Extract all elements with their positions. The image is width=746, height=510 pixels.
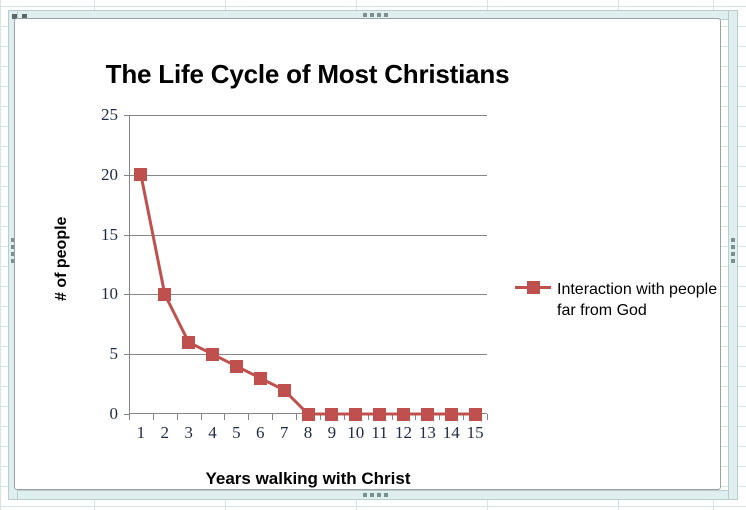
sheet-row-gridline: [0, 6, 746, 7]
plot-area[interactable]: 0510152025 123456789101112131415: [129, 115, 487, 414]
data-point-marker[interactable]: [158, 288, 171, 301]
x-axis-tick-label: 1: [137, 423, 146, 443]
x-axis-title: Years walking with Christ: [129, 469, 487, 489]
chart-legend[interactable]: Interaction with people far from God: [515, 279, 720, 321]
x-axis-tick-label: 8: [304, 423, 313, 443]
x-axis-tick-label: 13: [419, 423, 436, 443]
data-point-marker[interactable]: [302, 408, 315, 421]
chart-object[interactable]: The Life Cycle of Most Christians # of p…: [8, 10, 738, 500]
resize-grip-bottom[interactable]: [363, 493, 388, 497]
data-point-marker[interactable]: [134, 168, 147, 181]
x-axis-tick-label: 6: [256, 423, 265, 443]
resize-grip-top[interactable]: [363, 13, 388, 17]
sheet-column-gridline: [0, 0, 1, 510]
x-axis-tick-label: 14: [443, 423, 460, 443]
x-axis-tick: [487, 414, 488, 420]
data-point-marker[interactable]: [421, 408, 434, 421]
x-axis-tick: [153, 414, 154, 420]
y-axis-tick-label: 10: [101, 284, 118, 304]
data-point-marker[interactable]: [469, 408, 482, 421]
chart-plot-frame[interactable]: The Life Cycle of Most Christians # of p…: [14, 18, 721, 490]
x-axis-tick-label: 12: [395, 423, 412, 443]
data-point-marker[interactable]: [445, 408, 458, 421]
y-axis-title: # of people: [53, 217, 71, 301]
data-point-marker[interactable]: [373, 408, 386, 421]
series-line: [129, 115, 487, 414]
data-point-marker[interactable]: [254, 372, 267, 385]
y-axis-tick-label: 5: [110, 344, 119, 364]
x-axis-tick: [201, 414, 202, 420]
x-axis-tick-label: 11: [371, 423, 387, 443]
data-point-marker[interactable]: [206, 348, 219, 361]
data-point-marker[interactable]: [230, 360, 243, 373]
data-point-marker[interactable]: [397, 408, 410, 421]
x-axis-tick: [129, 414, 130, 420]
sheet-row-gridline: [0, 506, 746, 507]
y-axis-tick-label: 0: [110, 404, 119, 424]
x-axis-tick-label: 5: [232, 423, 241, 443]
x-axis-tick-label: 10: [347, 423, 364, 443]
data-point-marker[interactable]: [278, 384, 291, 397]
chart-title: The Life Cycle of Most Christians: [15, 59, 720, 90]
y-axis-tick-label: 15: [101, 225, 118, 245]
x-axis-tick-label: 3: [184, 423, 193, 443]
resize-grip-right[interactable]: [731, 238, 735, 263]
x-axis-tick: [248, 414, 249, 420]
x-axis-tick-label: 7: [280, 423, 289, 443]
y-axis-tick-label: 25: [101, 105, 118, 125]
data-point-marker[interactable]: [325, 408, 338, 421]
x-axis-tick: [224, 414, 225, 420]
x-axis-tick-label: 4: [208, 423, 217, 443]
x-axis-tick: [272, 414, 273, 420]
x-axis-tick: [177, 414, 178, 420]
x-axis-tick-label: 9: [328, 423, 337, 443]
legend-label: Interaction with people far from God: [557, 279, 720, 321]
x-axis-tick-label: 2: [161, 423, 170, 443]
x-axis-tick-label: 15: [467, 423, 484, 443]
y-axis-tick-label: 20: [101, 165, 118, 185]
data-point-marker[interactable]: [349, 408, 362, 421]
data-point-marker[interactable]: [182, 336, 195, 349]
x-axis-tick: [296, 414, 297, 420]
legend-marker-icon: [515, 279, 551, 295]
